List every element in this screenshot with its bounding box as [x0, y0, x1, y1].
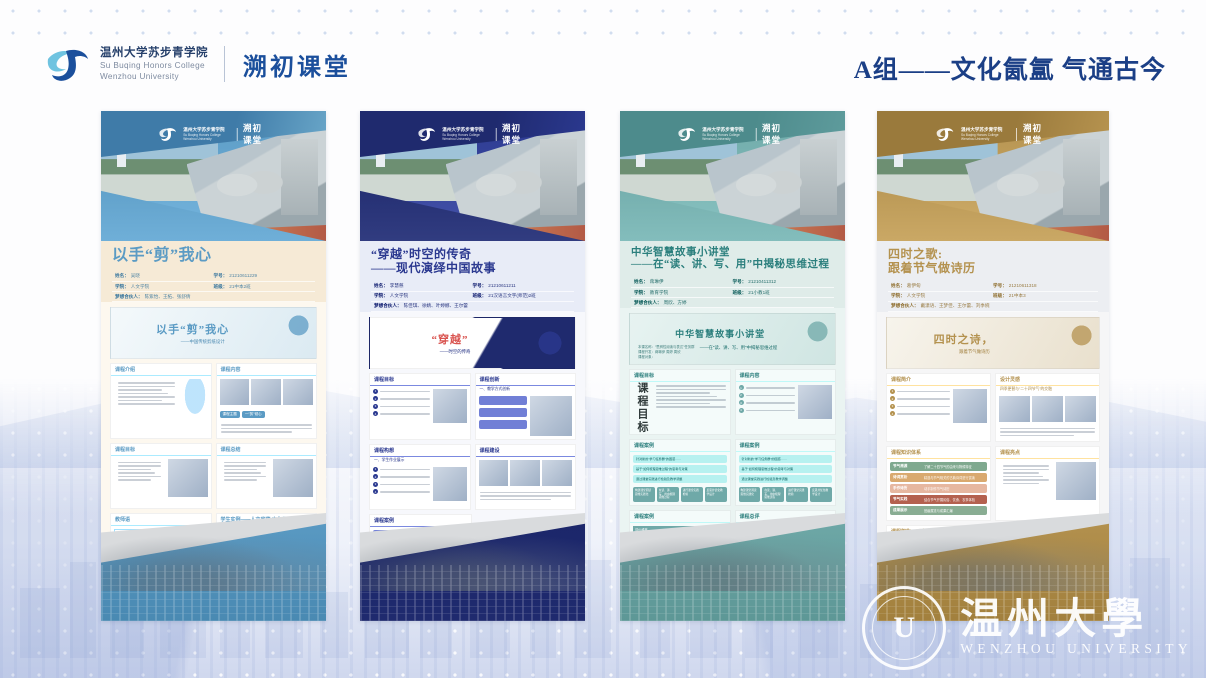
flow-node: 通过课堂实践进行检验及教学调整	[739, 475, 833, 483]
bullet-list: 1234	[373, 389, 430, 423]
bullet-dot: 4	[739, 408, 744, 413]
bullet-text	[380, 406, 430, 408]
info-value: 吴晓	[131, 273, 140, 279]
hero-logo-en: Su Buqing Honors College Wenzhou Univers…	[183, 133, 230, 142]
text-line	[118, 479, 151, 481]
info-label: 学号：	[473, 283, 487, 289]
section-text	[476, 489, 576, 506]
section-heading: 课程目标	[111, 444, 211, 456]
text-line	[221, 424, 313, 426]
bullet-item: 3	[739, 400, 796, 405]
info-value: 人文学院	[131, 284, 149, 290]
section-card: 设计灵感四季更替与“二十四节气”的交融	[995, 373, 1100, 443]
thumbnail-image	[168, 459, 208, 497]
bullet-item: 1	[373, 389, 430, 394]
table-row: 梦想合伙人：周欣、方婷	[631, 298, 834, 308]
bullet-text	[897, 413, 950, 415]
table-row: 学院：人文学院班级：21中本3	[888, 292, 1098, 302]
info-value: 陈紫怡、王柘、张舒倩	[145, 294, 191, 300]
text-line	[118, 403, 175, 405]
info-value: 周欣、方婷	[664, 300, 687, 306]
flow-node: 在读、讲、写、用中梳理思维过程	[657, 487, 679, 502]
thumbnail-image	[510, 460, 540, 486]
section-subheading: 一、教学方式创新	[476, 386, 576, 393]
info-label: 学院：	[374, 293, 388, 299]
bullet-dot: 1	[373, 389, 378, 394]
bullet-dot: 3	[373, 482, 378, 487]
section-text	[999, 462, 1053, 489]
layer-bars: 节气溯源了解二十四节气的由来与物候特征诗词赏析精选与节气相关的古典诗词进行赏读手…	[887, 459, 990, 520]
banner-sub-text: ——在“读、讲、写、用”中揭秘思维过程	[700, 345, 778, 351]
poster-title-zone: 中华智慧故事小讲堂——在“读、讲、写、用”中揭秘思维过程姓名：蒋琳伊学号：212…	[620, 241, 845, 308]
section-text	[996, 425, 1099, 442]
college-name-cn: 温州大学苏步青学院	[100, 46, 208, 60]
background-building	[20, 588, 60, 658]
info-label: 姓名：	[891, 283, 905, 289]
thumbnail-image	[1032, 396, 1063, 422]
bullet-text	[897, 391, 950, 393]
info-cell: 班级：21中本2班	[214, 284, 313, 290]
poster-title-line-1: “穿越”时空的传奇	[371, 247, 574, 261]
text-line	[118, 396, 175, 398]
thumbnail-image	[433, 467, 467, 501]
flow-node: 反思并优化教学设计	[810, 487, 832, 502]
section-heading: 课程内容	[217, 364, 317, 376]
section-card: 课程总结	[216, 443, 318, 509]
info-label: 学院：	[115, 284, 129, 290]
info-cell: 梦想合伙人：陈佳琪、徐婧、叶婷娜、王尔蕾	[374, 303, 571, 309]
thumbnail-image	[251, 379, 281, 405]
section-heading: 课程介绍	[111, 364, 211, 376]
section-row: 课程目标1234课程创新一、教学方式创新	[369, 373, 576, 444]
bullet-text	[380, 391, 430, 393]
bullet-dot: 1	[739, 385, 744, 390]
poster-thumbnail	[530, 396, 572, 436]
table-row: 梦想合伙人：陈紫怡、王柘、张舒倩	[112, 292, 315, 302]
hero-college-logo: 温州大学苏步青学院Su Buqing Honors College Wenzho…	[676, 122, 789, 146]
bullet-item: 2	[373, 396, 430, 401]
hero-logo-en: Su Buqing Honors College Wenzhou Univers…	[961, 133, 1010, 142]
table-row: 梦想合伙人：陈佳琪、徐婧、叶婷娜、王尔蕾	[371, 302, 574, 312]
bullet-dot: 3	[373, 404, 378, 409]
info-label: 梦想合伙人：	[374, 303, 402, 309]
hero-logo-text: 温州大学苏步青学院Su Buqing Honors College Wenzho…	[702, 127, 749, 142]
info-label: 学院：	[634, 290, 648, 296]
section-heading: 课程目标	[630, 370, 730, 382]
flow-node: 针对新的“学习任务群”的困惑……	[633, 455, 727, 463]
bullet-text	[897, 406, 950, 408]
su-monogram-icon	[935, 127, 955, 141]
poster-title-zone: “穿越”时空的传奇——现代演绎中国故事姓名：李慧慈学号：21210611211学…	[360, 241, 585, 312]
banner-sub-text: ——时空的传奇	[440, 349, 471, 355]
text-line	[118, 465, 161, 467]
layer-label: 节气溯源	[893, 464, 921, 469]
poster-banner: 以手“剪”我心——中国传统剪纸设计	[110, 307, 317, 359]
blue-porcelain-icon	[531, 324, 569, 362]
info-label: 班级：	[993, 293, 1007, 299]
leaf-illustration-icon	[1055, 324, 1093, 362]
thumbnail-image	[433, 389, 467, 423]
poster-title-line-2: ——现代演绎中国故事	[371, 261, 574, 275]
info-cell: 学号：21210611318	[993, 283, 1095, 289]
flow-node: 进行课堂实践检验	[786, 487, 808, 502]
text-line	[118, 469, 151, 471]
section-heading: 课程创新	[476, 374, 576, 386]
info-cell: 学院：人文学院	[374, 293, 473, 299]
flow-node	[479, 408, 528, 417]
university-watermark: U 温州大學 WENZHOU UNIVERSITY	[862, 586, 1192, 670]
text-line	[656, 385, 726, 387]
college-logo: 温州大学苏步青学院 Su Buqing Honors College Wenzh…	[44, 46, 351, 83]
layer-desc: 结合节气开展民俗、饮食、农事体验	[924, 497, 975, 502]
bullet-list: 1234	[373, 467, 430, 501]
hero-logo-brand: 溯初课堂	[762, 122, 789, 146]
footer-building-photo	[620, 565, 845, 621]
tag-chips: 课程主题一“剪”倾心	[217, 408, 317, 421]
info-cell: 班级：21汉语言文字(师范)2班	[473, 293, 572, 299]
section-heading: 课程建设	[476, 445, 576, 457]
flow-node	[479, 396, 528, 405]
flow-row: 构建课堂阅读思维实践化在读、讲、写、用中梳理思维过程进行课堂实践检验反思并优化教…	[739, 487, 833, 502]
info-cell: 姓名：吴晓	[115, 273, 214, 279]
bullet-dot: 2	[739, 393, 744, 398]
text-line	[224, 462, 267, 464]
bullet-dot: 1	[373, 467, 378, 472]
poster-banner: 中华智慧故事小讲堂——在“读、讲、写、用”中揭秘思维过程本课名称：“思辨性阅读与…	[629, 313, 836, 365]
tag-chip: 一“剪”倾心	[242, 411, 265, 418]
hero-logo-divider	[1016, 128, 1017, 141]
info-label: 学号：	[214, 273, 228, 279]
flow-with-poster	[476, 393, 576, 439]
poster-footer	[360, 513, 585, 621]
info-cell: 学院：人文学院	[115, 284, 214, 290]
section-heading: 课程简介	[887, 374, 990, 386]
text-line	[1003, 469, 1049, 471]
bullet-dot: 2	[373, 396, 378, 401]
tag-chip: 课程主题	[220, 411, 240, 418]
text-line	[1003, 465, 1049, 467]
banner-main-text: 中华智慧故事小讲堂	[675, 327, 765, 340]
info-value: 教育学院	[650, 290, 668, 296]
hero-logo-divider	[236, 128, 237, 141]
bullet-item: 1	[890, 389, 950, 394]
poster-info-table: 姓名：蒋琳伊学号：21210411312学院：教育学院班级：21小教1班梦想合伙…	[631, 278, 834, 309]
info-value: 蒋琳伊	[650, 279, 664, 285]
list-with-image: 1234	[736, 382, 836, 422]
image-grid	[476, 457, 576, 489]
flow-node: 构建课堂阅读思维实践化	[739, 487, 761, 502]
layer-bar: 节气溯源了解二十四节气的由来与物候特征	[890, 462, 987, 471]
text-line	[118, 472, 155, 474]
list-with-image: 1234	[370, 464, 470, 504]
thumbnail-image	[542, 460, 572, 486]
text-line	[224, 476, 267, 478]
poster-title-line-1: 以手“剪”我心	[112, 247, 315, 266]
header-divider	[224, 46, 225, 82]
section-card: 课程构想一、学生作业展示1234	[369, 444, 471, 510]
flow-node: 通过课堂实践进行检验及教学调整	[633, 475, 727, 483]
info-value: 陈佳琪、徐婧、叶婷娜、王尔蕾	[404, 303, 468, 309]
text-line	[1000, 431, 1095, 433]
bullet-item: 2	[890, 396, 950, 401]
section-card: 课程内容1234	[735, 369, 837, 435]
footer-building-photo	[360, 565, 585, 621]
text-line	[656, 403, 710, 405]
text-line	[118, 462, 161, 464]
layer-desc: 动手制作节气诗历	[924, 486, 950, 491]
thumbnail-image	[1056, 462, 1096, 500]
text-with-image	[217, 456, 317, 500]
layer-desc: 了解二十四节气的由来与物候特征	[924, 464, 972, 469]
info-value: 21汉语言文字(师范)2班	[488, 293, 535, 299]
section-card: 课程目标1234	[369, 373, 471, 440]
section-card: 课程目标	[110, 443, 212, 509]
flow-node: 进行课堂实践检验	[681, 487, 703, 502]
info-label: 梦想合伙人：	[634, 300, 662, 306]
layer-bar: 节气实践结合节气开展民俗、饮食、农事体验	[890, 495, 987, 504]
section-subheading: 四季更替与“二十四节气”的交融	[996, 386, 1099, 393]
flow-node: 针对新的“学习任务群”的困惑……	[739, 455, 833, 463]
bullet-text	[380, 476, 430, 478]
thumbnail-image	[999, 396, 1030, 422]
poster-1: 温州大学苏步青学院Su Buqing Honors College Wenzho…	[101, 111, 326, 621]
section-card: 课程建设	[475, 444, 577, 510]
bullet-item: 3	[373, 482, 430, 487]
poster-hero: 温州大学苏步青学院Su Buqing Honors College Wenzho…	[101, 111, 326, 241]
text-with-image	[111, 456, 211, 500]
poster-title: 以手“剪”我心	[112, 247, 315, 266]
info-cell: 学院：教育学院	[634, 290, 733, 296]
info-cell: 姓名：李慧慈	[374, 283, 473, 289]
info-value: 21小教1班	[748, 290, 769, 296]
bullet-text	[746, 410, 796, 412]
info-cell: 姓名：蒋琳伊	[634, 279, 733, 285]
layer-desc: 精选与节气相关的古典诗词进行赏读	[924, 475, 975, 480]
hero-logo-en: Su Buqing Honors College Wenzhou Univers…	[702, 133, 749, 142]
vertical-section-title: 课程目标	[634, 382, 650, 434]
flow-diagram: 针对新的“学习任务群”的困惑……基于“如何梳理思维过程”的思考与对策通过课堂实践…	[630, 452, 730, 505]
hero-college-logo: 温州大学苏步青学院Su Buqing Honors College Wenzho…	[157, 122, 270, 146]
section-row: 课程简介1234设计灵感四季更替与“二十四节气”的交融	[886, 373, 1100, 447]
hero-logo-divider	[495, 128, 496, 141]
text-line	[656, 389, 726, 391]
table-row: 学院：教育学院班级：21小教1班	[631, 288, 834, 298]
poster-3: 温州大学苏步青学院Su Buqing Honors College Wenzho…	[620, 111, 845, 621]
text-line	[656, 396, 717, 398]
hero-logo-cn: 温州大学苏步青学院	[183, 127, 230, 133]
thumbnail-image	[1065, 396, 1096, 422]
hero-logo-brand: 溯初课堂	[243, 122, 270, 146]
text-line	[224, 472, 261, 474]
info-value: 人文学院	[907, 293, 925, 299]
section-card: 课程创新一、教学方式创新	[475, 373, 577, 440]
layer-bar: 手作诗历动手制作节气诗历	[890, 484, 987, 493]
bullet-text	[746, 387, 796, 389]
hero-logo-cn: 温州大学苏步青学院	[442, 127, 489, 133]
poster-banner: 四时之诗，跟着节气做诗历	[886, 317, 1100, 369]
bullet-item: 4	[373, 489, 430, 494]
info-value: 葛伊甸	[907, 283, 921, 289]
section-heading: 课程亮点	[996, 447, 1099, 459]
poster-footer	[101, 513, 326, 621]
section-heading: 课程知识体系	[887, 447, 990, 459]
banner-meta: 本课名称：“思辨性阅读与表达”任务群课程开发：蒋琳伊 周婷 周欣课程对象：	[638, 345, 695, 360]
info-label: 姓名：	[374, 283, 388, 289]
bullet-text	[380, 484, 430, 486]
info-cell: 姓名：葛伊甸	[891, 283, 993, 289]
poster-hero: 温州大学苏步青学院Su Buqing Honors College Wenzho…	[620, 111, 845, 241]
banner-sub-text: ——中国传统剪纸设计	[181, 339, 225, 345]
su-monogram-icon	[44, 47, 92, 81]
college-name-en-line2: Wenzhou University	[100, 71, 208, 82]
poster-footer	[620, 513, 845, 621]
thumbnail-image	[479, 460, 509, 486]
poster-info-table: 姓名：葛伊甸学号：21210611318学院：人文学院班级：21中本3梦想合伙人…	[888, 281, 1098, 312]
bullet-text	[380, 398, 430, 400]
slide-canvas: 温州大学苏步青学院 Su Buqing Honors College Wenzh…	[0, 0, 1206, 678]
bullet-text	[380, 469, 430, 471]
text-line	[480, 499, 551, 501]
bullet-item: 1	[373, 467, 430, 472]
thumbnail-image	[283, 379, 313, 405]
brand-title: 溯初课堂	[243, 47, 351, 82]
text-line	[118, 382, 175, 384]
poster-title-zone: 以手“剪”我心姓名：吴晓学号：21210611229学院：人文学院班级：21中本…	[101, 241, 326, 302]
poster-title: 四时之歌:跟着节气做诗历	[888, 247, 1098, 275]
text-line	[1003, 479, 1049, 481]
text-line	[118, 400, 162, 402]
info-cell: 学号：21210611211	[473, 283, 572, 289]
info-label: 学号：	[733, 279, 747, 285]
section-text	[114, 379, 179, 410]
hero-logo-divider	[755, 128, 756, 141]
section-text	[114, 459, 165, 486]
poster-title-line-1: 四时之歌:	[888, 247, 1098, 261]
thumbnail-image	[798, 385, 832, 419]
info-cell: 学号：21210611229	[214, 273, 313, 279]
section-subheading: 一、学生作业展示	[370, 457, 470, 464]
su-monogram-icon	[676, 127, 696, 141]
text-line	[1003, 476, 1043, 478]
section-row: 课程目标课程总结	[110, 443, 317, 513]
footer-building-photo	[101, 565, 326, 621]
bullet-dot: 3	[890, 404, 895, 409]
info-label: 学号：	[993, 283, 1007, 289]
text-line	[656, 406, 726, 408]
list-with-image: 1234	[887, 386, 990, 426]
section-heading: 课程构想	[370, 445, 470, 457]
info-value: 21中本3	[1009, 293, 1026, 299]
bullet-text	[746, 395, 796, 397]
info-value: 21中本2班	[229, 284, 250, 290]
paragraph	[220, 459, 271, 497]
info-label: 班级：	[733, 290, 747, 296]
bullet-item: 2	[373, 474, 430, 479]
bullet-text	[746, 402, 796, 404]
bullet-item: 4	[890, 411, 950, 416]
text-line	[118, 386, 175, 388]
section-card: 课程简介1234	[886, 373, 991, 443]
text-with-image	[996, 459, 1099, 503]
text-line	[221, 431, 292, 433]
text-line	[224, 465, 267, 467]
poster-info-table: 姓名：吴晓学号：21210611229学院：人文学院班级：21中本2班梦想合伙人…	[112, 272, 315, 303]
layer-bar: 诗词赏析精选与节气相关的古典诗词进行赏读	[890, 473, 987, 482]
table-row: 学院：人文学院班级：21汉语言文字(师范)2班	[371, 292, 574, 302]
info-cell: 班级：21中本3	[993, 293, 1095, 299]
section-card: 课程案例针对新的“学习任务群”的困惑……基于“如何梳理思维过程”的思考与对策通过…	[629, 439, 731, 506]
poster-title: “穿越”时空的传奇——现代演绎中国故事	[371, 247, 574, 275]
poster-4: 温州大学苏步青学院Su Buqing Honors College Wenzho…	[877, 111, 1109, 621]
info-label: 学院：	[891, 293, 905, 299]
bullet-item: 2	[739, 393, 796, 398]
bullet-text	[380, 413, 430, 415]
text-line	[1000, 435, 1074, 437]
hero-logo-brand: 溯初课堂	[502, 122, 529, 146]
info-label: 梦想合伙人：	[891, 303, 919, 309]
info-cell: 学院：人文学院	[891, 293, 993, 299]
bullet-item: 4	[739, 408, 796, 413]
bullet-dot: 4	[890, 411, 895, 416]
thumbnail-image	[273, 459, 313, 497]
hero-logo-brand: 溯初课堂	[1023, 122, 1051, 146]
college-name-en-line1: Su Buqing Honors College	[100, 60, 208, 71]
flow-node: 基于“如何梳理思维过程”的思考与对策	[739, 465, 833, 473]
image-grid	[217, 376, 317, 408]
section-heading: 设计灵感	[996, 374, 1099, 386]
su-monogram-icon	[416, 127, 436, 141]
layer-label: 诗词赏析	[893, 475, 921, 480]
info-value: 21210411312	[748, 279, 776, 285]
flow-node	[479, 420, 528, 429]
su-monogram-icon	[157, 127, 177, 141]
hero-college-logo: 温州大学苏步青学院Su Buqing Honors College Wenzho…	[935, 122, 1051, 146]
table-row: 梦想合伙人：戴潇语、王梦佳、王尔蕾、刘季婉	[888, 302, 1098, 312]
bullet-item: 4	[373, 411, 430, 416]
hero-logo-text: 温州大学苏步青学院Su Buqing Honors College Wenzho…	[961, 127, 1010, 142]
background-building	[70, 562, 96, 658]
info-cell: 班级：21小教1班	[733, 290, 832, 296]
info-label: 梦想合伙人：	[115, 294, 143, 300]
hero-logo-text: 温州大学苏步青学院Su Buqing Honors College Wenzho…	[183, 127, 230, 142]
info-label: 姓名：	[115, 273, 129, 279]
section-row: 课程构想一、学生作业展示1234课程建设	[369, 444, 576, 514]
text-line	[1003, 483, 1039, 485]
banner-main-text: “穿越”	[432, 331, 469, 347]
bullet-dot: 4	[373, 489, 378, 494]
table-row: 姓名：吴晓学号：21210611229	[112, 272, 315, 282]
poster-title-line-2: 跟着节气做诗历	[888, 261, 1098, 275]
image-grid	[996, 393, 1099, 425]
watermark-name-en: WENZHOU UNIVERSITY	[960, 641, 1192, 657]
bullet-item: 3	[890, 404, 950, 409]
bullet-dot: 2	[373, 474, 378, 479]
bullet-list: 1234	[890, 389, 950, 423]
section-card: 课程案例针对新的“学习任务群”的困惑……基于“如何梳理思维过程”的思考与对策通过…	[735, 439, 837, 506]
section-card: 课程内容课程主题一“剪”倾心	[216, 363, 318, 439]
text-line	[118, 393, 168, 395]
layer-label: 手作诗历	[893, 486, 921, 491]
info-value: 人文学院	[390, 293, 408, 299]
section-heading: 课程内容	[736, 370, 836, 382]
flow-node: 反思并优化教学设计	[705, 487, 727, 502]
section-row: 课程目标课程目标课程内容1234	[629, 369, 836, 439]
poster-title-line-2: ——在“读、讲、写、用”中揭秘思维过程	[631, 259, 834, 271]
section-heading: 课程总结	[217, 444, 317, 456]
poster-hero: 温州大学苏步青学院Su Buqing Honors College Wenzho…	[877, 111, 1109, 241]
poster-title-line-1: 中华智慧故事小讲堂	[631, 247, 834, 259]
info-label: 班级：	[214, 284, 228, 290]
